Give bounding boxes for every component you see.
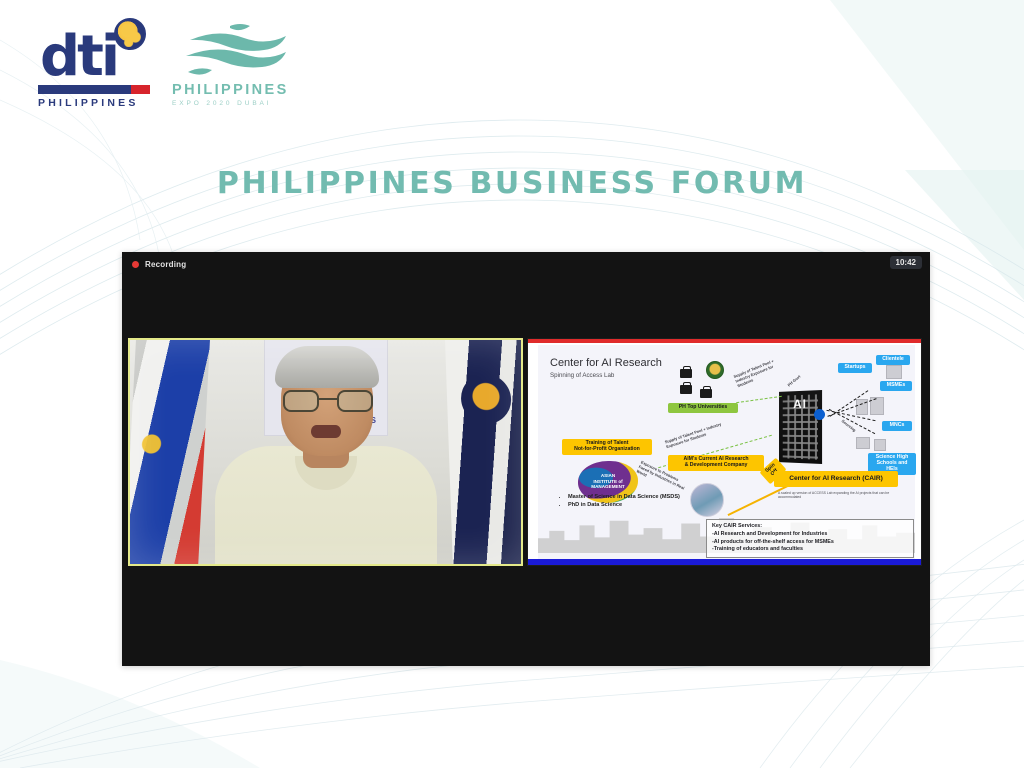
arrow-label-talent-mid: Supply of Talent Pool + Industry Exposur…: [664, 418, 737, 450]
recording-label: Recording: [145, 260, 186, 269]
slide-body: Center for AI Research Spinning of Acces…: [528, 343, 921, 559]
expo-logo-name: PHILIPPINES: [172, 82, 292, 98]
briefcase-icon-3: [700, 389, 712, 398]
label-ph-universities: PH Top Universities: [668, 403, 738, 413]
slide-title: Center for AI Research: [550, 357, 662, 369]
briefcase-icon-1: [680, 369, 692, 378]
network-hub-dot: [814, 409, 825, 420]
aim-logo-label: ASIAN INSTITUTE of MANAGEMENT: [578, 473, 638, 490]
video-stage: dti ES: [128, 338, 922, 566]
label-clientele: Clientele: [876, 355, 910, 365]
ai-tower-graphic: AI: [779, 390, 822, 464]
slide-bottom-accent-bar: [528, 559, 921, 565]
slide-canvas: Center for AI Research Spinning of Acces…: [538, 345, 915, 559]
expo-logo-tagline: EXPO 2020 DUBAI: [172, 100, 292, 107]
webcam-vignette: [130, 340, 521, 564]
key-services-box: Key CAIR Services: -AI Research and Deve…: [706, 519, 914, 558]
flow-arrow-top: [736, 396, 782, 403]
label-training-of-talent: Training of Talent Not-for-Profit Organi…: [562, 439, 652, 455]
building-icon-1: [886, 365, 902, 379]
label-aim-company: AIM's Current AI Research & Development …: [668, 455, 764, 471]
dti-logo-rule: [38, 85, 150, 94]
dti-logo: dti PHILIPPINES: [38, 32, 150, 109]
webcam-tile-speaker[interactable]: dti ES: [128, 338, 523, 566]
dti-logo-subtitle: PHILIPPINES: [38, 97, 150, 109]
brand-header: dti PHILIPPINES PHILIPPINES EXPO 2020 DU…: [38, 22, 292, 109]
key-services-item: -AI products for off-the-shelf access fo…: [712, 539, 908, 547]
recording-dot-icon: [132, 261, 139, 268]
aim-company-photo: [690, 483, 724, 517]
label-cair: Center for AI Research (CAIR): [774, 471, 898, 487]
meeting-clock: 10:42: [890, 256, 922, 269]
slide-subtitle: Spinning of Access Lab: [550, 372, 614, 379]
webcam-scene: dti ES: [130, 340, 521, 564]
ph-government-seal-icon: [706, 361, 724, 379]
label-msmes: MSMEs: [880, 381, 912, 391]
cair-footnote: A scaled up version of ACCESS Lab expand…: [778, 491, 900, 500]
building-icon-5: [874, 439, 886, 451]
dti-sun-icon: [114, 18, 146, 50]
label-mncs: MNCs: [882, 421, 912, 431]
expo-2020-logo: PHILIPPINES EXPO 2020 DUBAI: [172, 22, 292, 109]
page-title: PHILIPPINES BUSINESS FORUM: [0, 166, 1024, 201]
key-services-item: -AI Research and Development for Industr…: [712, 531, 908, 539]
expo-wave-icon: [172, 22, 292, 80]
video-top-bar: Recording 10:42: [122, 252, 930, 276]
briefcase-icon-2: [680, 385, 692, 394]
recording-indicator: Recording: [132, 260, 186, 269]
label-startups: Startups: [838, 363, 872, 373]
degree-bullet-list: Master of Science in Data Science (MSDS)…: [560, 493, 680, 510]
list-item: Master of Science in Data Science (MSDS): [568, 493, 680, 501]
arrow-label-ph-govt: PH Govt: [787, 359, 821, 388]
key-services-item: -Training of educators and faculties: [712, 546, 908, 554]
shared-screen-tile[interactable]: Center for AI Research Spinning of Acces…: [527, 338, 922, 566]
arrow-label-talent-top: Supply of Talent Pool + Industry Exposur…: [733, 356, 787, 389]
list-item: PhD in Data Science: [568, 501, 680, 509]
video-conference-window: Recording 10:42 dti ES: [122, 252, 930, 666]
key-services-heading: Key CAIR Services:: [712, 523, 908, 531]
